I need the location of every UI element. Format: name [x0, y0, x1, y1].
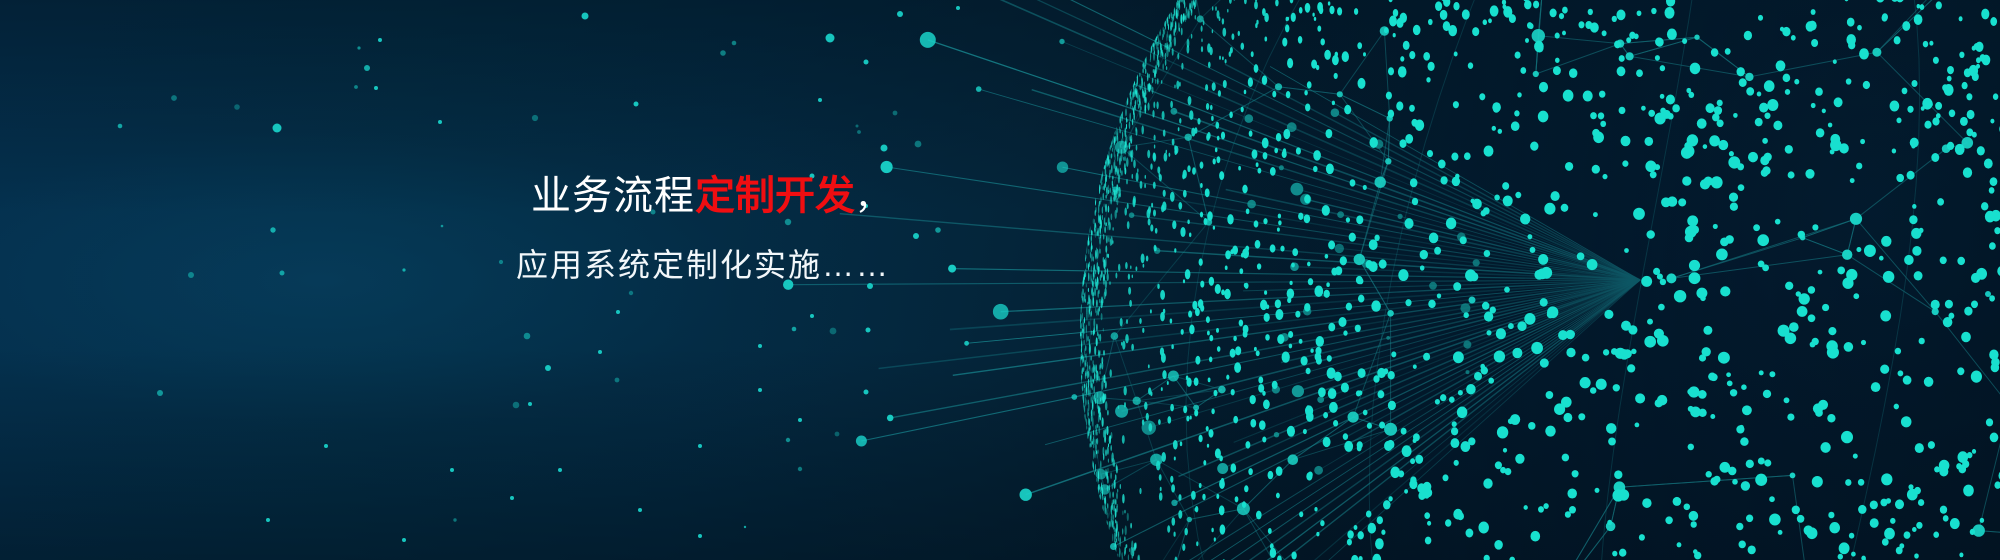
particles-svg [0, 0, 2000, 560]
floating-particles [0, 0, 2000, 560]
hero-banner: 业务流程定制开发， 应用系统定制化实施…… [0, 0, 2000, 560]
